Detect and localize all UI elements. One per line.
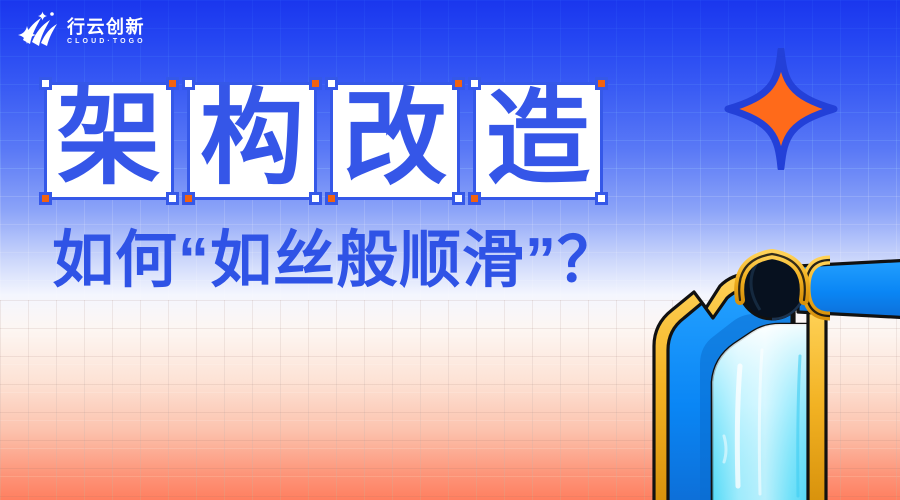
handle-bottom-right[interactable] [452, 192, 465, 205]
headline-char: 架 [57, 87, 161, 191]
pipe-water-flow-illustration [612, 246, 900, 500]
headline-char-box[interactable]: 构 [187, 82, 317, 200]
headline-char-box[interactable]: 改 [330, 82, 460, 200]
headline-char: 改 [343, 87, 447, 191]
banner-canvas: 行云创新 CLOUD·TOGO 架 构 改 [0, 0, 900, 500]
handle-bottom-left[interactable] [468, 192, 481, 205]
headline-char: 构 [200, 87, 304, 191]
handle-top-right[interactable] [166, 77, 179, 90]
headline-char: 造 [486, 87, 590, 191]
handle-bottom-right[interactable] [166, 192, 179, 205]
handle-bottom-left[interactable] [39, 192, 52, 205]
headline-row: 架 构 改 造 [44, 82, 603, 200]
headline-char-box[interactable]: 架 [44, 82, 174, 200]
brand-tagline: CLOUD·TOGO [67, 38, 146, 45]
handle-top-left[interactable] [39, 77, 52, 90]
sparkle-swoosh-logo-icon [14, 10, 58, 52]
handle-top-left[interactable] [182, 77, 195, 90]
handle-bottom-left[interactable] [182, 192, 195, 205]
four-point-star-icon [722, 48, 840, 170]
handle-top-right[interactable] [309, 77, 322, 90]
handle-bottom-right[interactable] [595, 192, 608, 205]
brand-name: 行云创新 [67, 18, 146, 36]
headline-char-box[interactable]: 造 [473, 82, 603, 200]
brand-text-block: 行云创新 CLOUD·TOGO [67, 18, 146, 45]
subtitle-text: 如何“如丝般顺滑”？ [52, 228, 620, 293]
handle-top-right[interactable] [595, 77, 608, 90]
handle-top-right[interactable] [452, 77, 465, 90]
handle-bottom-right[interactable] [309, 192, 322, 205]
handle-bottom-left[interactable] [325, 192, 338, 205]
handle-top-left[interactable] [468, 77, 481, 90]
handle-top-left[interactable] [325, 77, 338, 90]
brand-logo[interactable]: 行云创新 CLOUD·TOGO [14, 8, 146, 54]
